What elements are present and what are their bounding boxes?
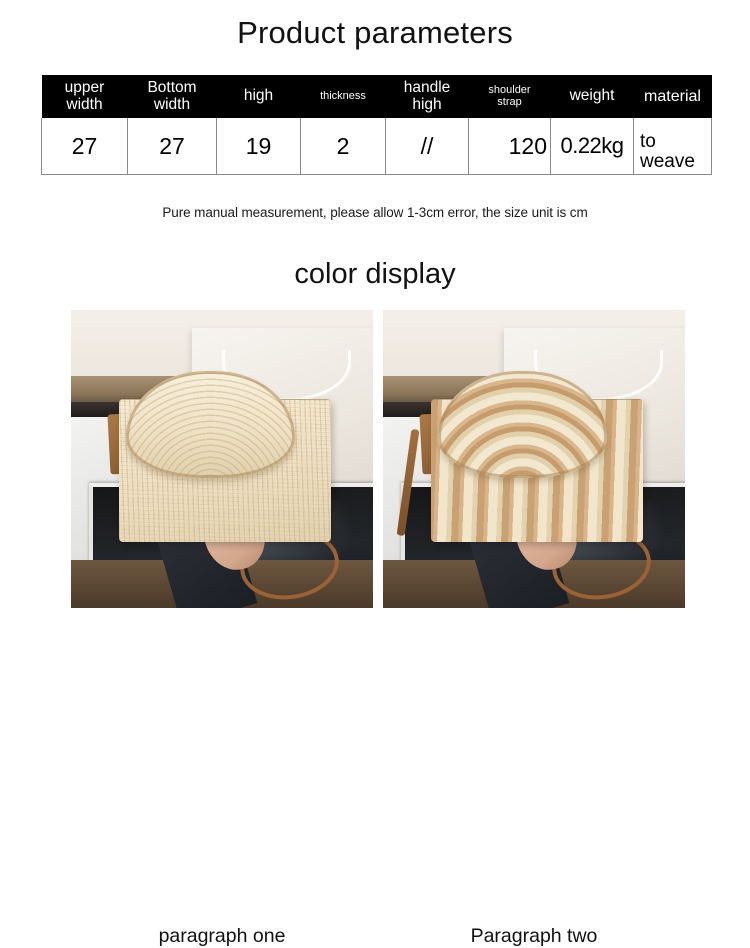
spec-header-material: material: [634, 75, 712, 118]
spec-header-thickness-line1: thickness: [301, 91, 386, 103]
spec-value-high: 19: [217, 118, 301, 175]
product-photo-one: T H Y O U: [71, 310, 373, 608]
spec-header-handle-high-line1: handle: [386, 80, 469, 97]
spec-table-head: upper width Bottom width high thickness …: [42, 75, 712, 118]
spec-table-value-row: 27 27 19 2 // 120 0.22kg to weave: [42, 118, 712, 175]
spec-value-bottom-width: 27: [128, 118, 217, 175]
spec-header-upper-width-line2: width: [42, 97, 128, 114]
spec-value-material-text: to weave: [634, 132, 711, 172]
caption-paragraph-one: paragraph one: [71, 925, 373, 948]
spec-header-shoulder-strap-line1: shoulder: [469, 85, 551, 97]
clutch-bag-one: [119, 399, 330, 542]
spec-header-weight-line1: weight: [551, 88, 634, 105]
spec-header-handle-high: handle high: [386, 75, 469, 118]
spec-header-bottom-width: Bottom width: [128, 75, 217, 118]
spec-table: upper width Bottom width high thickness …: [41, 75, 712, 175]
spec-table-header-row: upper width Bottom width high thickness …: [42, 75, 712, 118]
spec-value-thickness: 2: [301, 118, 386, 175]
section-title-color-display: color display: [0, 259, 750, 291]
page-title: Product parameters: [0, 16, 750, 50]
clutch-bag-two: [431, 399, 642, 542]
color-display-gallery: T H Y O U paragraph: [0, 310, 750, 610]
product-photo-card-one[interactable]: T H Y O U: [71, 310, 373, 608]
spec-header-bottom-width-line2: width: [128, 97, 217, 114]
spec-table-body: 27 27 19 2 // 120 0.22kg to weave: [42, 118, 712, 175]
spec-value-weight: 0.22kg: [551, 118, 634, 175]
product-photo-two: T H Y O U: [383, 310, 685, 608]
spec-header-weight: weight: [551, 75, 634, 118]
product-photo-card-two[interactable]: T H Y O U: [383, 310, 685, 608]
spec-value-material: to weave: [634, 118, 712, 175]
spec-header-thickness: thickness: [301, 75, 386, 118]
spec-header-upper-width: upper width: [42, 75, 128, 118]
spec-header-shoulder-strap: shoulder strap: [469, 75, 551, 118]
spec-value-shoulder-strap: 120: [469, 118, 551, 175]
spec-header-upper-width-line1: upper: [42, 80, 128, 97]
caption-paragraph-two: Paragraph two: [383, 925, 685, 948]
spec-header-material-line1: material: [634, 88, 712, 105]
spec-header-high: high: [217, 75, 301, 118]
spec-header-bottom-width-line1: Bottom: [128, 80, 217, 97]
measurement-note: Pure manual measurement, please allow 1-…: [0, 205, 750, 220]
spec-header-high-line1: high: [217, 88, 301, 105]
spec-header-shoulder-strap-line2: strap: [469, 97, 551, 109]
spec-value-handle-high: //: [386, 118, 469, 175]
spec-value-upper-width: 27: [42, 118, 128, 175]
spec-header-handle-high-line2: high: [386, 97, 469, 114]
